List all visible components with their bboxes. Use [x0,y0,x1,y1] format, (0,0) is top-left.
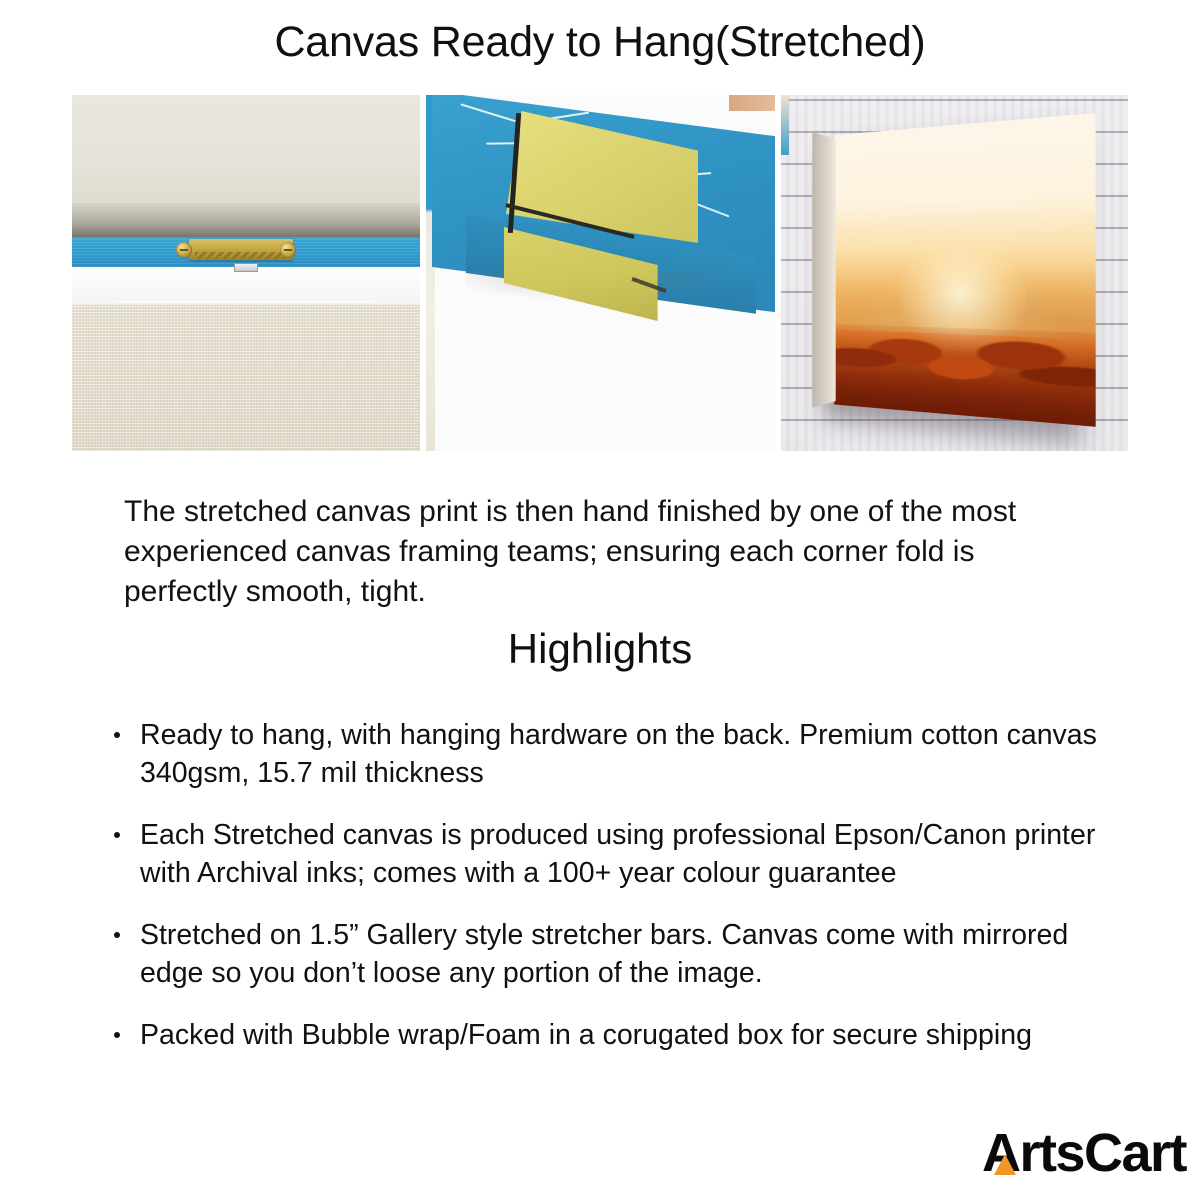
photo1-upper-surface [72,95,420,207]
photo3-canvas-depth-side [812,132,836,408]
artscart-logo: A rtsCart [982,1122,1186,1184]
sawtooth-hanger-icon [189,239,293,260]
bullet-dot-icon [114,1032,120,1038]
photo3-left-sliver [781,95,789,155]
page-title: Canvas Ready to Hang(Stretched) [0,18,1200,66]
bullet-dot-icon [114,932,120,938]
highlights-heading: Highlights [0,625,1200,673]
orange-triangle-icon [994,1154,1016,1175]
photo1-shadow-band [72,203,420,239]
intro-paragraph: The stretched canvas print is then hand … [124,492,1070,612]
photo2-top-right-sliver [729,95,775,111]
bullet-dot-icon [114,732,120,738]
list-item-text: Packed with Bubble wrap/Foam in a coruga… [140,1019,1032,1051]
photo-canvas-back-hanging-hardware [72,95,420,451]
highlights-list: Ready to hang, with hanging hardware on … [106,716,1106,1078]
photo-canvas-hung-on-wall [781,95,1128,451]
list-item: Each Stretched canvas is produced using … [106,816,1106,892]
list-item: Packed with Bubble wrap/Foam in a coruga… [106,1016,1106,1054]
logo-letter-a: A [982,1122,1020,1184]
photo-canvas-corner-fold [426,95,775,451]
photo1-metal-tab [234,263,258,272]
screw-right-icon [280,242,296,258]
product-photo-strip [72,95,1128,451]
photo1-cotton-canvas-surface [72,305,420,451]
list-item: Ready to hang, with hanging hardware on … [106,716,1106,792]
photo3-sunset-print [834,113,1096,427]
list-item-text: Ready to hang, with hanging hardware on … [140,719,1097,789]
logo-wordmark-rest: rtsCart [1019,1122,1186,1184]
list-item: Stretched on 1.5” Gallery style stretche… [106,916,1106,992]
photo3-stretched-canvas [834,113,1096,427]
bullet-dot-icon [114,832,120,838]
screw-left-icon [176,242,192,258]
sawtooth-teeth [195,252,287,259]
list-item-text: Stretched on 1.5” Gallery style stretche… [140,919,1068,989]
list-item-text: Each Stretched canvas is produced using … [140,819,1095,889]
